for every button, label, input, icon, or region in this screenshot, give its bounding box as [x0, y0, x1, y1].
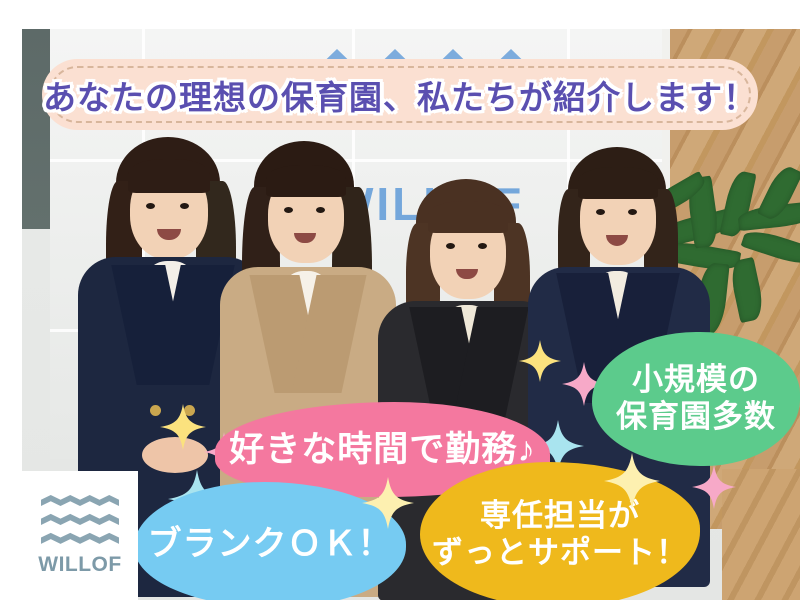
feature-bubble-line-1: 小規模の — [632, 362, 760, 397]
left-margin — [0, 0, 22, 600]
headline-text: あなたの理想の保育園、私たちが紹介します！ — [43, 71, 757, 119]
headline-banner: あなたの理想の保育園、私たちが紹介します！ — [42, 59, 758, 130]
sparkle-icon — [692, 462, 736, 512]
advertisement-banner: WILLOF — [0, 0, 800, 600]
feature-bubble-small-nurseries[interactable]: 小規模の 保育園多数 — [592, 332, 800, 466]
sparkle-icon — [160, 400, 206, 454]
feature-bubble-text: 小規模の 保育園多数 — [616, 362, 776, 435]
top-margin — [0, 0, 800, 29]
feature-bubble-text: 好きな時間で勤務♪ — [229, 429, 536, 470]
feature-bubble-line-2: ずっとサポート！ — [432, 535, 688, 570]
willof-wordmark: WILLOF — [38, 553, 121, 577]
feature-bubble-text: ブランクＯＫ！ — [148, 524, 393, 564]
sparkle-icon — [362, 474, 414, 532]
willof-logo-card[interactable]: WILLOF — [22, 471, 138, 600]
feature-bubble-line-2: 保育園多数 — [616, 399, 776, 434]
sparkle-icon — [604, 450, 660, 512]
zigzag-logo-icon — [41, 495, 119, 547]
sparkle-icon — [519, 335, 561, 387]
